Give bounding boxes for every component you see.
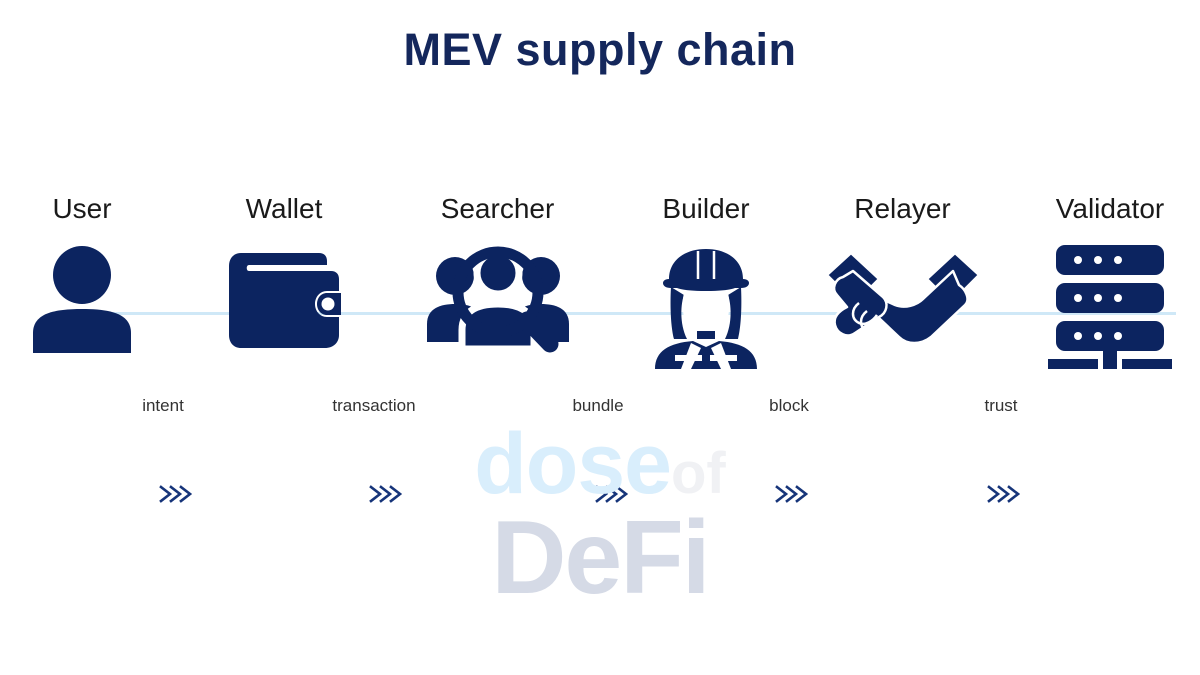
diagram-canvas: MEV supply chain User Wallet: [0, 0, 1200, 675]
node-label-wallet: Wallet: [210, 192, 358, 226]
chain-node-validator[interactable]: Validator: [1030, 192, 1190, 368]
arrow-builder-to-relayer: [774, 482, 808, 506]
edge-label-transaction: transaction: [332, 396, 415, 416]
chain-node-wallet[interactable]: Wallet: [210, 192, 358, 354]
watermark-word-of: of: [671, 441, 726, 506]
node-label-validator: Validator: [1030, 192, 1190, 226]
node-label-relayer: Relayer: [820, 192, 985, 226]
user-icon: [27, 244, 137, 354]
arrow-wallet-to-searcher: [368, 482, 402, 506]
page-title: MEV supply chain: [0, 24, 1200, 76]
handshake-icon: [823, 244, 983, 354]
mev-supply-chain-row: User Wallet: [0, 180, 1200, 420]
edge-label-block: block: [769, 396, 809, 416]
chain-node-searcher[interactable]: Searcher: [420, 192, 575, 354]
watermark-word-dose: dose: [474, 416, 671, 512]
chain-node-builder[interactable]: Builder: [636, 192, 776, 368]
edge-label-intent: intent: [142, 396, 184, 416]
construction-worker-icon: [651, 244, 761, 368]
node-label-user: User: [8, 192, 156, 226]
edge-label-trust: trust: [984, 396, 1017, 416]
server-stack-icon: [1045, 244, 1175, 368]
arrow-relayer-to-validator: [986, 482, 1020, 506]
edge-label-bundle: bundle: [572, 396, 623, 416]
searcher-magnifier-icon: [425, 244, 571, 354]
arrow-user-to-wallet: [158, 482, 192, 506]
node-label-builder: Builder: [636, 192, 776, 226]
wallet-icon: [225, 244, 343, 354]
arrow-searcher-to-builder: [594, 482, 628, 506]
chain-node-relayer[interactable]: Relayer: [820, 192, 985, 354]
node-label-searcher: Searcher: [420, 192, 575, 226]
chain-node-user[interactable]: User: [8, 192, 156, 354]
watermark-line-2: DeFi: [0, 502, 1200, 614]
